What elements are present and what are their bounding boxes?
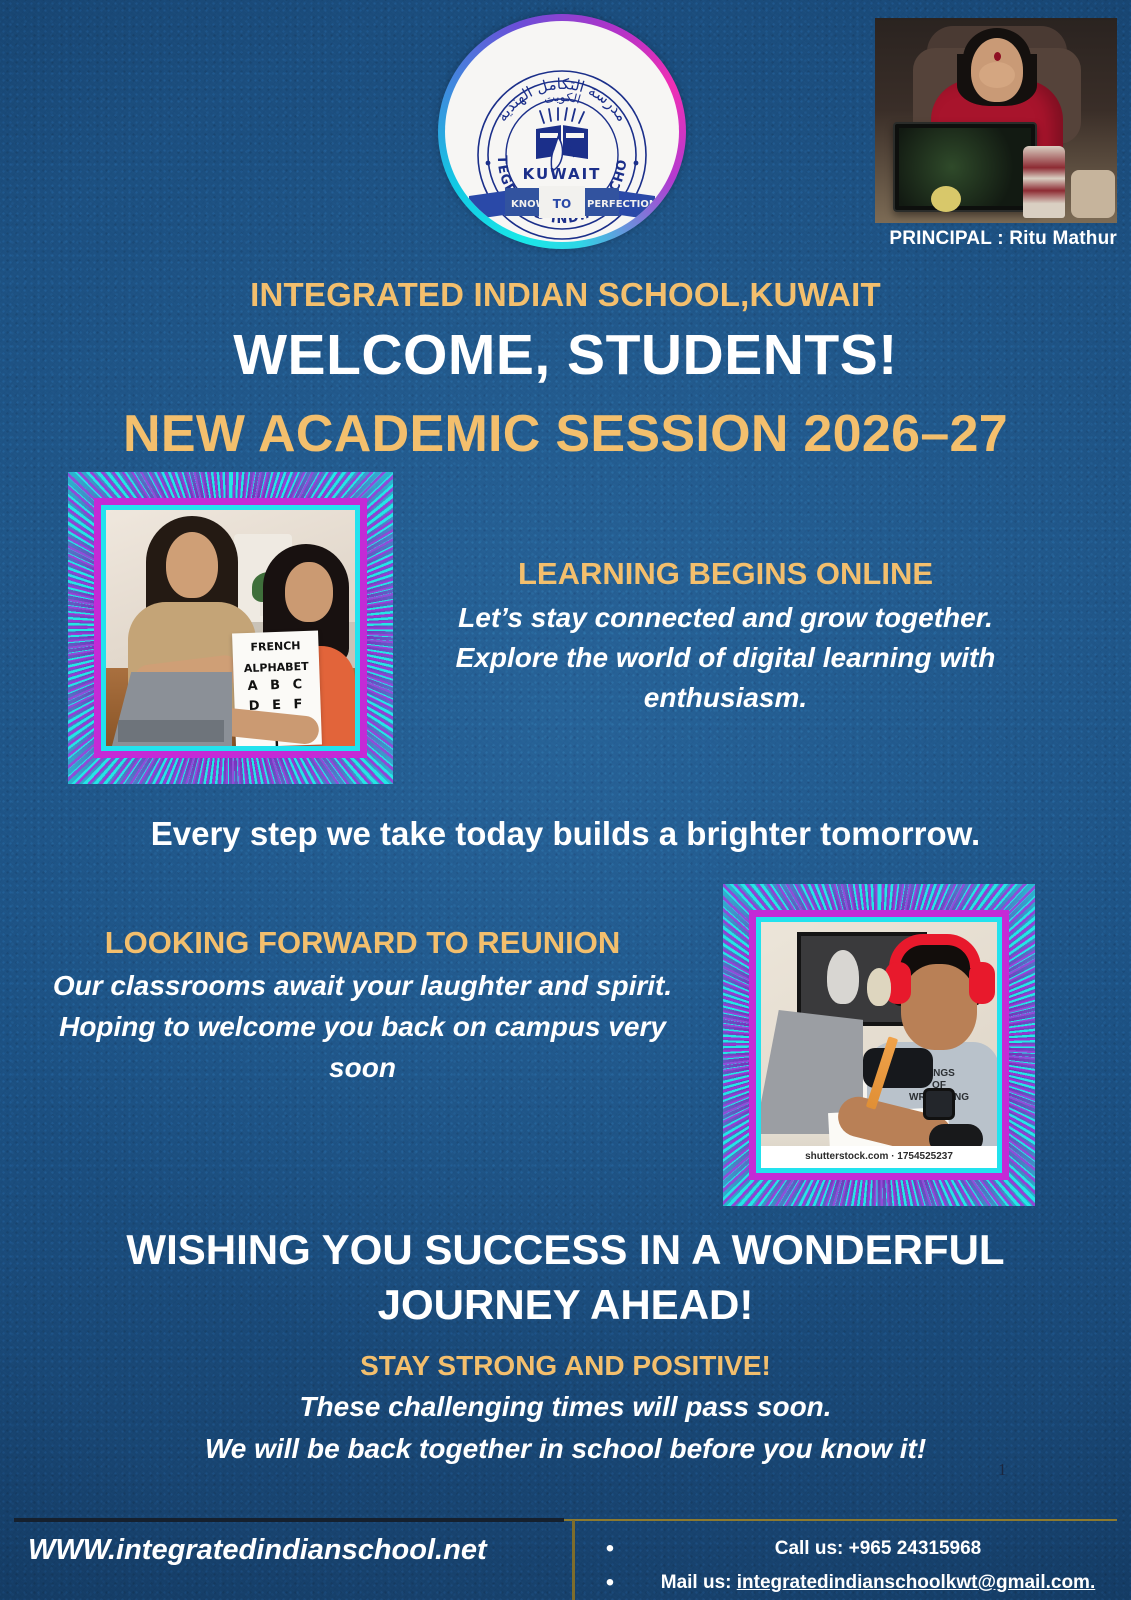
footer-rule-gold [564, 1519, 1117, 1521]
teacher-face [166, 532, 218, 598]
svg-text:الكويت: الكويت [542, 90, 582, 107]
svg-text:KNOWLEDGE: KNOWLEDGE [511, 199, 583, 210]
boy-studying-photo: KINGS OF WRESTLING shutterstock.com · 17… [761, 922, 997, 1168]
principal-photo [875, 18, 1117, 223]
photo-frame-reunion: KINGS OF WRESTLING shutterstock.com · 17… [723, 884, 1035, 1206]
bullet-1: • [596, 1532, 624, 1566]
learning-online-section: LEARNING BEGINS ONLINE Let’s stay connec… [393, 556, 1058, 718]
card-title-line2: ALPHABET [233, 652, 320, 676]
flower-shape [931, 186, 961, 212]
closing-line1: These challenging times will pass soon. [0, 1386, 1131, 1428]
learning-online-line2: Explore the world of digital learning wi… [393, 638, 1058, 678]
vase-shape [1023, 146, 1065, 218]
contact-details: Call us: +965 24315968 Mail us: integrat… [628, 1532, 1128, 1600]
principal-face-shadow [979, 62, 1015, 88]
mail-address-link[interactable]: integratedindianschoolkwt@gmail.com. [737, 1572, 1095, 1593]
headphone-earcup-right [969, 962, 995, 1004]
card-title-line1: FRENCH [232, 631, 319, 655]
svg-text:PERFECTION: PERFECTION [587, 199, 657, 210]
school-logo: مدرسة التكامل الهندية الكويت INTEGRATED … [424, 6, 708, 258]
poster-canvas: مدرسة التكامل الهندية الكويت INTEGRATED … [0, 0, 1131, 1600]
desk-object-shape [1071, 170, 1115, 218]
footer-vertical-divider [572, 1520, 575, 1600]
reunion-heading: LOOKING FORWARD TO REUNION [5, 925, 720, 961]
phone-line: Call us: +965 24315968 [628, 1532, 1128, 1566]
reunion-line1: Our classrooms await your laughter and s… [5, 965, 720, 1006]
reunion-section: LOOKING FORWARD TO REUNION Our classroom… [5, 925, 720, 1088]
stock-watermark: shutterstock.com · 1754525237 [761, 1146, 997, 1168]
school-name-heading: INTEGRATED INDIAN SCHOOL,KUWAIT [0, 276, 1131, 314]
closing-big-line2: JOURNEY AHEAD! [60, 1277, 1071, 1332]
closing-section: WISHING YOU SUCCESS IN A WONDERFUL JOURN… [0, 1222, 1131, 1470]
page-number: 1 [998, 1460, 1007, 1480]
footer-rule-dark [14, 1518, 564, 1522]
learning-online-heading: LEARNING BEGINS ONLINE [393, 556, 1058, 592]
footer-bullet-list: • • • [596, 1532, 624, 1600]
mail-label: Mail us: [661, 1572, 737, 1593]
closing-heading: STAY STRONG AND POSITIVE! [0, 1350, 1131, 1382]
boy-face [901, 964, 977, 1050]
mail-line: Mail us: integratedindianschoolkwt@gmail… [628, 1566, 1128, 1600]
principal-caption: PRINCIPAL : Ritu Mathur [859, 228, 1117, 250]
logo-gradient-ring: مدرسة التكامل الهندية الكويت INTEGRATED … [438, 14, 686, 249]
closing-big-line1: WISHING YOU SUCCESS IN A WONDERFUL [60, 1222, 1071, 1277]
wristwatch-shape [923, 1088, 955, 1120]
student-face [285, 562, 333, 622]
tagline-text: Every step we take today builds a bright… [0, 815, 1131, 853]
closing-line2: We will be back together in school befor… [0, 1428, 1131, 1470]
logo-disc: مدرسة التكامل الهندية الكويت INTEGRATED … [445, 21, 679, 242]
logo-ribbon: KNOWLEDGE TO PERFECTION [467, 182, 657, 224]
website-link[interactable]: WWW.integratedindianschool.net [28, 1534, 487, 1567]
laptop-shape-1 [112, 672, 232, 746]
bindi-shape [994, 52, 1001, 61]
teacher-student-photo: FRENCH ALPHABET A B C D E F G H I J [106, 510, 355, 746]
bullet-2: • [596, 1566, 624, 1600]
academic-session-heading: NEW ACADEMIC SESSION 2026–27 [0, 404, 1131, 464]
svg-text:KUWAIT: KUWAIT [523, 165, 602, 183]
learning-online-line3: enthusiasm. [393, 678, 1058, 718]
welcome-heading: WELCOME, STUDENTS! [0, 322, 1131, 388]
reunion-line3: soon [5, 1047, 720, 1088]
laptop-shape [893, 122, 1037, 212]
learning-online-line1: Let’s stay connected and grow together. [393, 598, 1058, 638]
photo-frame-learning: FRENCH ALPHABET A B C D E F G H I J [68, 472, 393, 784]
svg-text:TO: TO [553, 197, 571, 211]
principal-block: PRINCIPAL : Ritu Mathur [859, 18, 1117, 264]
reunion-line2: Hoping to welcome you back on campus ver… [5, 1006, 720, 1047]
footer-bar: WWW.integratedindianschool.net • • • Cal… [0, 1518, 1131, 1600]
